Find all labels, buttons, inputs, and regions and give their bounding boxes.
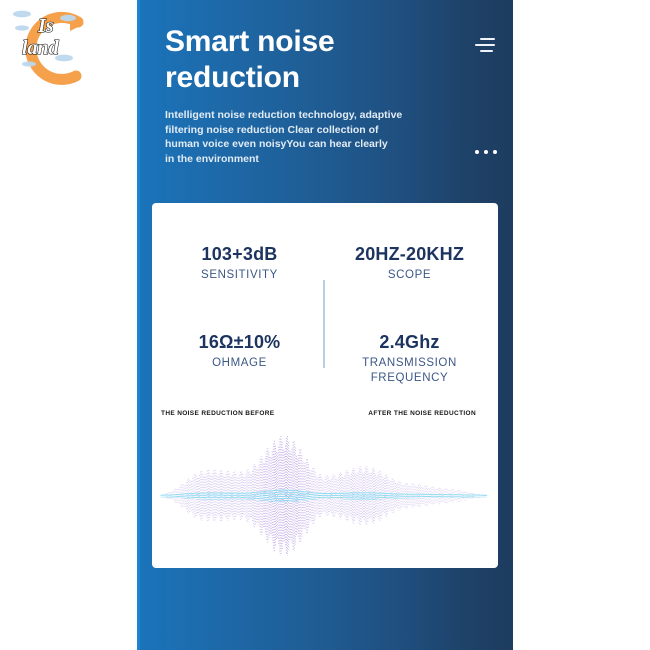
dot-2 <box>484 150 488 154</box>
hamburger-menu-icon[interactable] <box>475 38 495 52</box>
product-hero-panel: Smart noise reduction Intelligent noise … <box>137 0 513 650</box>
watermark-text-line2: land <box>22 37 60 59</box>
spec-value: 16Ω±10% <box>162 331 317 353</box>
spec-item-scope: 20HZ-20KHZ SCOPE <box>332 243 487 283</box>
screenshot-stage: Is land Smart noise reduction Intelligen… <box>0 0 650 650</box>
waveform-label-after: AFTER THE NOISE REDUCTION <box>368 410 476 417</box>
specs-grid: 103+3dB SENSITIVITY 20HZ-20KHZ SCOPE 16Ω… <box>152 221 498 406</box>
specs-divider <box>323 280 325 368</box>
spec-label: TRANSMISSION FREQUENCY <box>332 356 487 386</box>
panel-left-edge <box>137 0 140 650</box>
menu-line-2 <box>475 44 495 46</box>
dot-3 <box>493 150 497 154</box>
spec-label: SENSITIVITY <box>162 268 317 283</box>
spec-value: 2.4Ghz <box>332 331 487 353</box>
audio-waveform-graphic <box>160 431 490 561</box>
waveform-label-before: THE NOISE REDUCTION BEFORE <box>161 410 274 417</box>
menu-line-3 <box>480 50 493 52</box>
more-options-icon[interactable] <box>475 150 497 154</box>
island-watermark-logo: Is land <box>6 6 126 92</box>
menu-line-1 <box>480 38 495 40</box>
specs-card: 103+3dB SENSITIVITY 20HZ-20KHZ SCOPE 16Ω… <box>152 203 498 568</box>
spec-label: OHMAGE <box>162 356 317 371</box>
spec-item-transmission-frequency: 2.4Ghz TRANSMISSION FREQUENCY <box>332 331 487 386</box>
spec-item-sensitivity: 103+3dB SENSITIVITY <box>162 243 317 283</box>
spec-value: 103+3dB <box>162 243 317 265</box>
spec-value: 20HZ-20KHZ <box>332 243 487 265</box>
watermark-text-line1: Is <box>37 15 54 37</box>
dot-1 <box>475 150 479 154</box>
spec-label: SCOPE <box>332 268 487 283</box>
page-title: Smart noise reduction <box>165 24 425 96</box>
waveform-labels: THE NOISE REDUCTION BEFORE AFTER THE NOI… <box>152 410 498 424</box>
hero-header: Smart noise reduction Intelligent noise … <box>165 24 425 166</box>
page-subtitle: Intelligent noise reduction technology, … <box>165 108 415 166</box>
spec-item-ohmage: 16Ω±10% OHMAGE <box>162 331 317 371</box>
